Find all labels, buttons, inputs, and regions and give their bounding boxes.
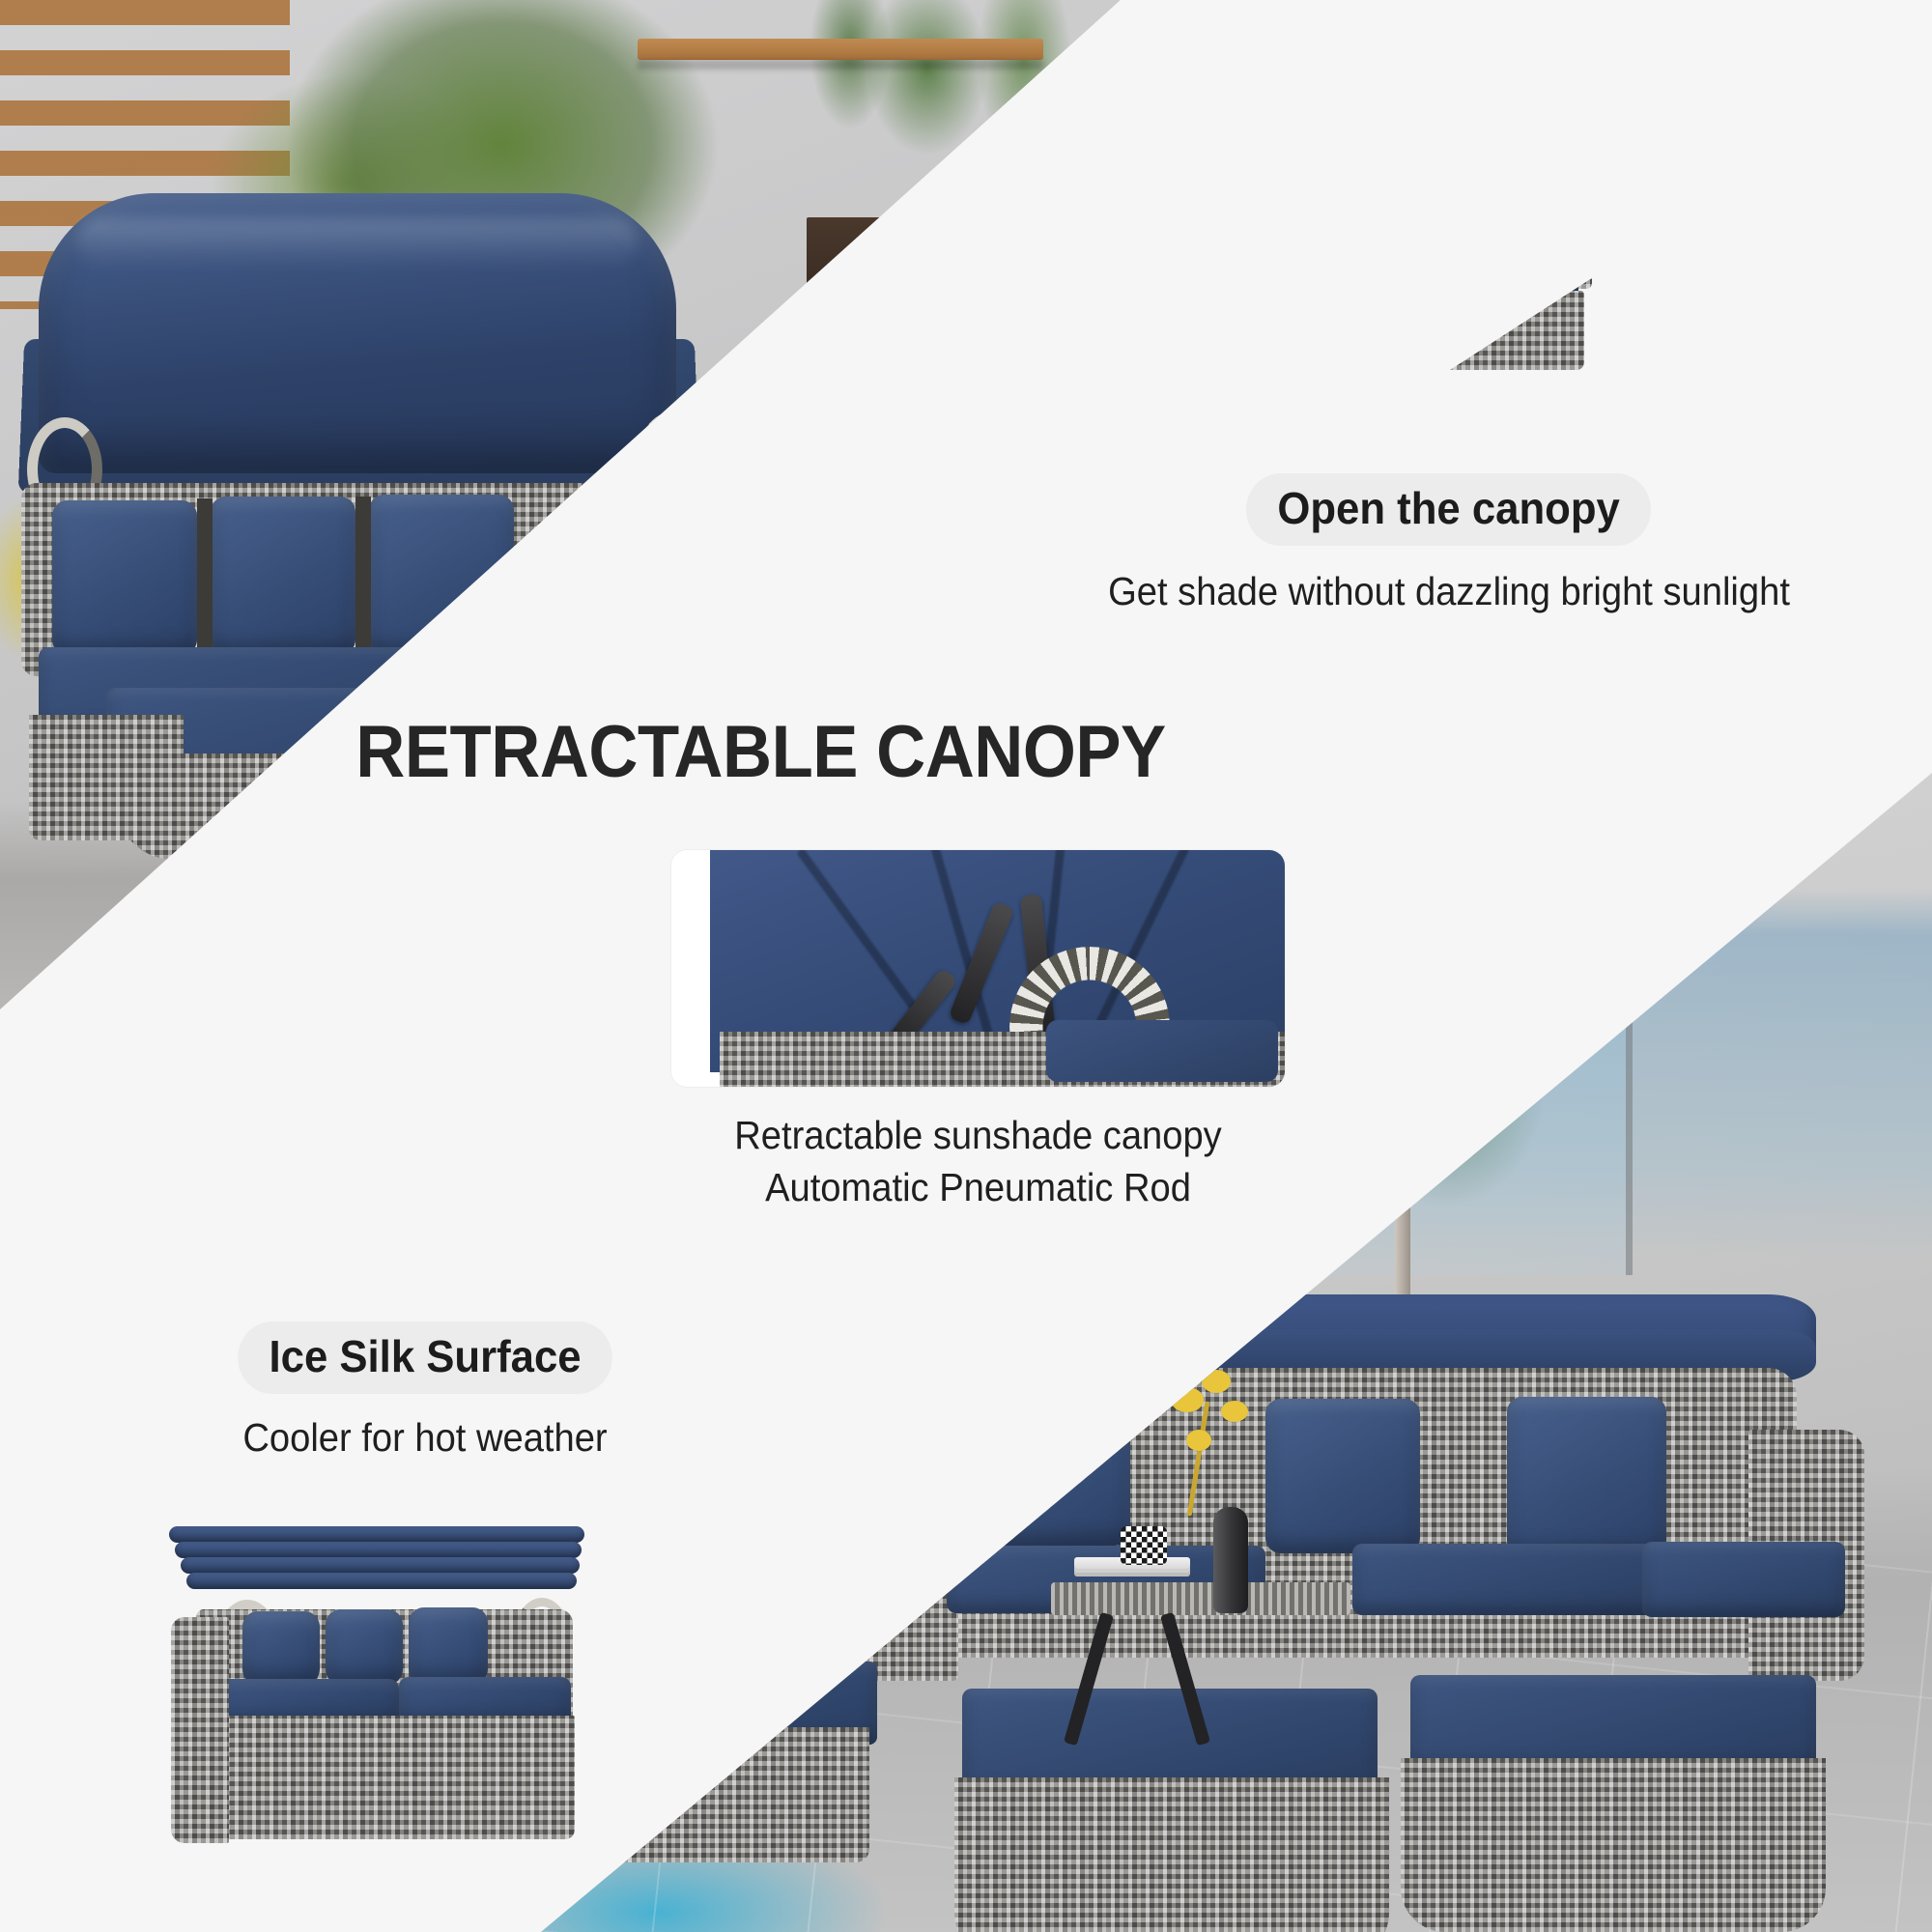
pillow [1387,194,1457,266]
pillow [242,1611,320,1685]
sofa-arm-left [852,1439,958,1681]
cushion-edge [1046,1020,1278,1082]
pillow [409,1607,488,1685]
pillow-gap [197,498,213,653]
flower [1186,1430,1211,1451]
feature-open-canopy: Open the canopy Get shade without dazzli… [966,473,1932,615]
seat-cushion [1642,1542,1845,1617]
pillow [369,495,514,655]
flower [1202,1370,1231,1393]
pillow [326,1609,403,1685]
status-badge-ice-silk: Ice Silk Surface [238,1321,612,1394]
pillow-gap [355,497,371,653]
page-title: RETRACTABLE CANOPY [53,710,1468,794]
photo-center-inset-canopy-detail [671,850,1285,1087]
photo-top-right-product-open-canopy [1246,24,1662,401]
shelf-shadow [638,60,1043,70]
tree-trunk [1395,947,1410,1314]
infographic-canvas: RETRACTABLE CANOPY Open the canopy Get s… [0,0,1932,1932]
pillow [1314,196,1381,266]
seat-cushion [1352,1544,1671,1615]
feature-detail-line-1: Retractable sunshade canopy [693,1109,1264,1161]
feature-ice-silk-description: Cooler for hot weather [137,1413,712,1462]
feature-open-canopy-description: Get shade without dazzling bright sunlig… [1000,567,1898,615]
tree-branch [1346,994,1427,1043]
photo-bottom-left-product-closed-canopy [159,1517,613,1874]
wooden-shelf [638,39,1043,60]
feature-ice-silk: Ice Silk Surface Cooler for hot weather [116,1321,734,1462]
daybed-side-panel [171,1617,229,1843]
pillow [1507,1397,1666,1556]
daybed-base [200,1716,575,1839]
coffee-table-top [1051,1582,1350,1615]
canopy-hood [39,193,676,473]
tree-branch [1408,1034,1511,1082]
mug [1121,1526,1167,1565]
pillow [985,1401,1130,1546]
ottoman-base-center [954,1777,1389,1932]
feature-detail-line-2: Automatic Pneumatic Rod [693,1161,1264,1213]
ottoman-cushion-right [1410,1675,1816,1772]
flower [1171,1387,1204,1412]
pillow [1265,1399,1420,1553]
water-bottle [1213,1507,1248,1613]
status-badge-open-canopy: Open the canopy [1246,473,1651,546]
folded-canopy-stack [169,1526,584,1602]
pillow [211,497,355,655]
daybed-base [1279,291,1584,370]
daybed-set [831,1294,1913,1893]
ottoman-base-right [1401,1758,1826,1932]
flower [1221,1401,1248,1422]
rope-hoop-right [636,412,711,516]
feature-retractable-detail: Retractable sunshade canopy Automatic Pn… [671,1109,1285,1213]
pillow [52,500,197,655]
daybed-body [1273,186,1592,365]
wall-niche [807,217,980,343]
